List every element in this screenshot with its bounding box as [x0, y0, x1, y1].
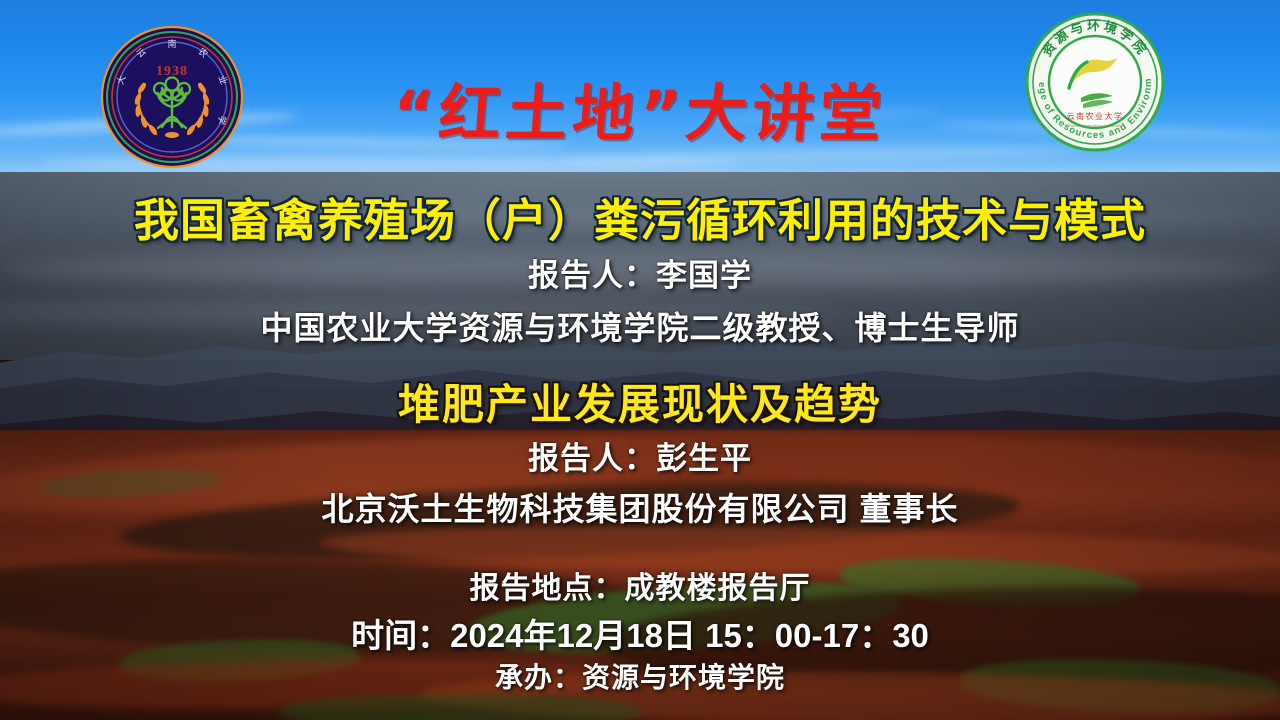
- speaker-1-affiliation: 中国农业大学资源与环境学院二级教授、博士生导师: [0, 303, 1280, 349]
- svg-text:Yunnan Agricultural University: Yunnan Agricultural University: [1068, 123, 1121, 128]
- speaker-2-affiliation: 北京沃土生物科技集团股份有限公司 董事长: [0, 484, 1280, 530]
- event-host: 承办：资源与环境学院: [0, 656, 1280, 696]
- lecture-title-primary: 我国畜禽养殖场（户）粪污循环利用的技术与模式: [0, 184, 1280, 249]
- svg-text:南: 南: [167, 38, 176, 50]
- lecture-title-secondary: 堆肥产业发展现状及趋势: [0, 371, 1280, 432]
- poster-banner: 云 南 农 业 大 学 1938: [0, 0, 1280, 172]
- university-seal-icon: 云 南 农 业 大 学 1938: [98, 23, 246, 171]
- event-poster: 云 南 农 业 大 学 1938: [0, 0, 1280, 720]
- event-venue: 报告地点：成教楼报告厅: [0, 563, 1280, 607]
- event-time: 时间：2024年12月18日 15：00-17：30: [0, 609, 1280, 657]
- college-logo-icon: 资源与环境学院 College of Resources and Environ…: [1025, 12, 1165, 152]
- speaker-2-name: 报告人：彭生平: [0, 433, 1280, 478]
- poster-content: 我国畜禽养殖场（户）粪污循环利用的技术与模式 报告人：李国学 中国农业大学资源与…: [0, 172, 1280, 720]
- speaker-1-name: 报告人：李国学: [0, 250, 1280, 295]
- svg-text:云南农业大学: 云南农业大学: [1067, 111, 1124, 121]
- banner-title: “红土地”大讲堂: [327, 62, 953, 154]
